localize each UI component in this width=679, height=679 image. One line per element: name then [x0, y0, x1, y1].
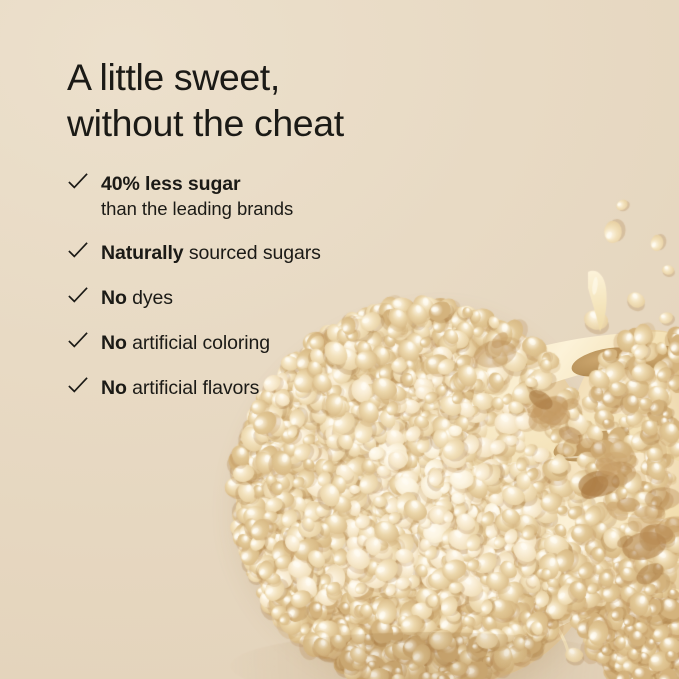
list-item-text: 40% less sugar	[101, 172, 487, 196]
list-item-text: Naturally sourced sugars	[101, 241, 487, 265]
list-item-normal: artificial coloring	[127, 332, 270, 354]
checkmark-icon	[67, 240, 89, 262]
list-item: No artificial coloring	[67, 331, 487, 355]
list-item-normal: dyes	[127, 287, 173, 309]
checkmark-icon	[67, 330, 89, 352]
list-item-normal: sourced sugars	[184, 242, 321, 264]
list-item-text: No dyes	[101, 286, 487, 310]
list-item-normal: artificial flavors	[127, 377, 259, 399]
list-item: No artificial flavors	[67, 376, 487, 400]
checkmark-icon	[67, 375, 89, 397]
list-item-strong: Naturally	[101, 242, 184, 264]
checkmark-icon	[67, 171, 89, 193]
marshmallow-strands	[455, 318, 679, 658]
list-item-strong: No	[101, 332, 127, 354]
list-item-text: No artificial coloring	[101, 331, 487, 355]
list-item: No dyes	[67, 286, 487, 310]
promo-graphic: A little sweet, without the cheat 40% le…	[0, 0, 679, 679]
list-item: Naturally sourced sugars	[67, 241, 487, 265]
checkmark-icon	[67, 285, 89, 307]
page-title: A little sweet, without the cheat	[67, 54, 497, 146]
list-item-strong: No	[101, 287, 127, 309]
list-item-strong: No	[101, 377, 127, 399]
list-item-strong: 40% less sugar	[101, 173, 241, 195]
list-item-text: No artificial flavors	[101, 376, 487, 400]
treat-right-piece	[560, 330, 679, 679]
list-item: 40% less sugar than the leading brands	[67, 172, 487, 220]
list-item-subtext: than the leading brands	[101, 197, 487, 220]
benefits-list: 40% less sugar than the leading brands N…	[67, 172, 487, 400]
